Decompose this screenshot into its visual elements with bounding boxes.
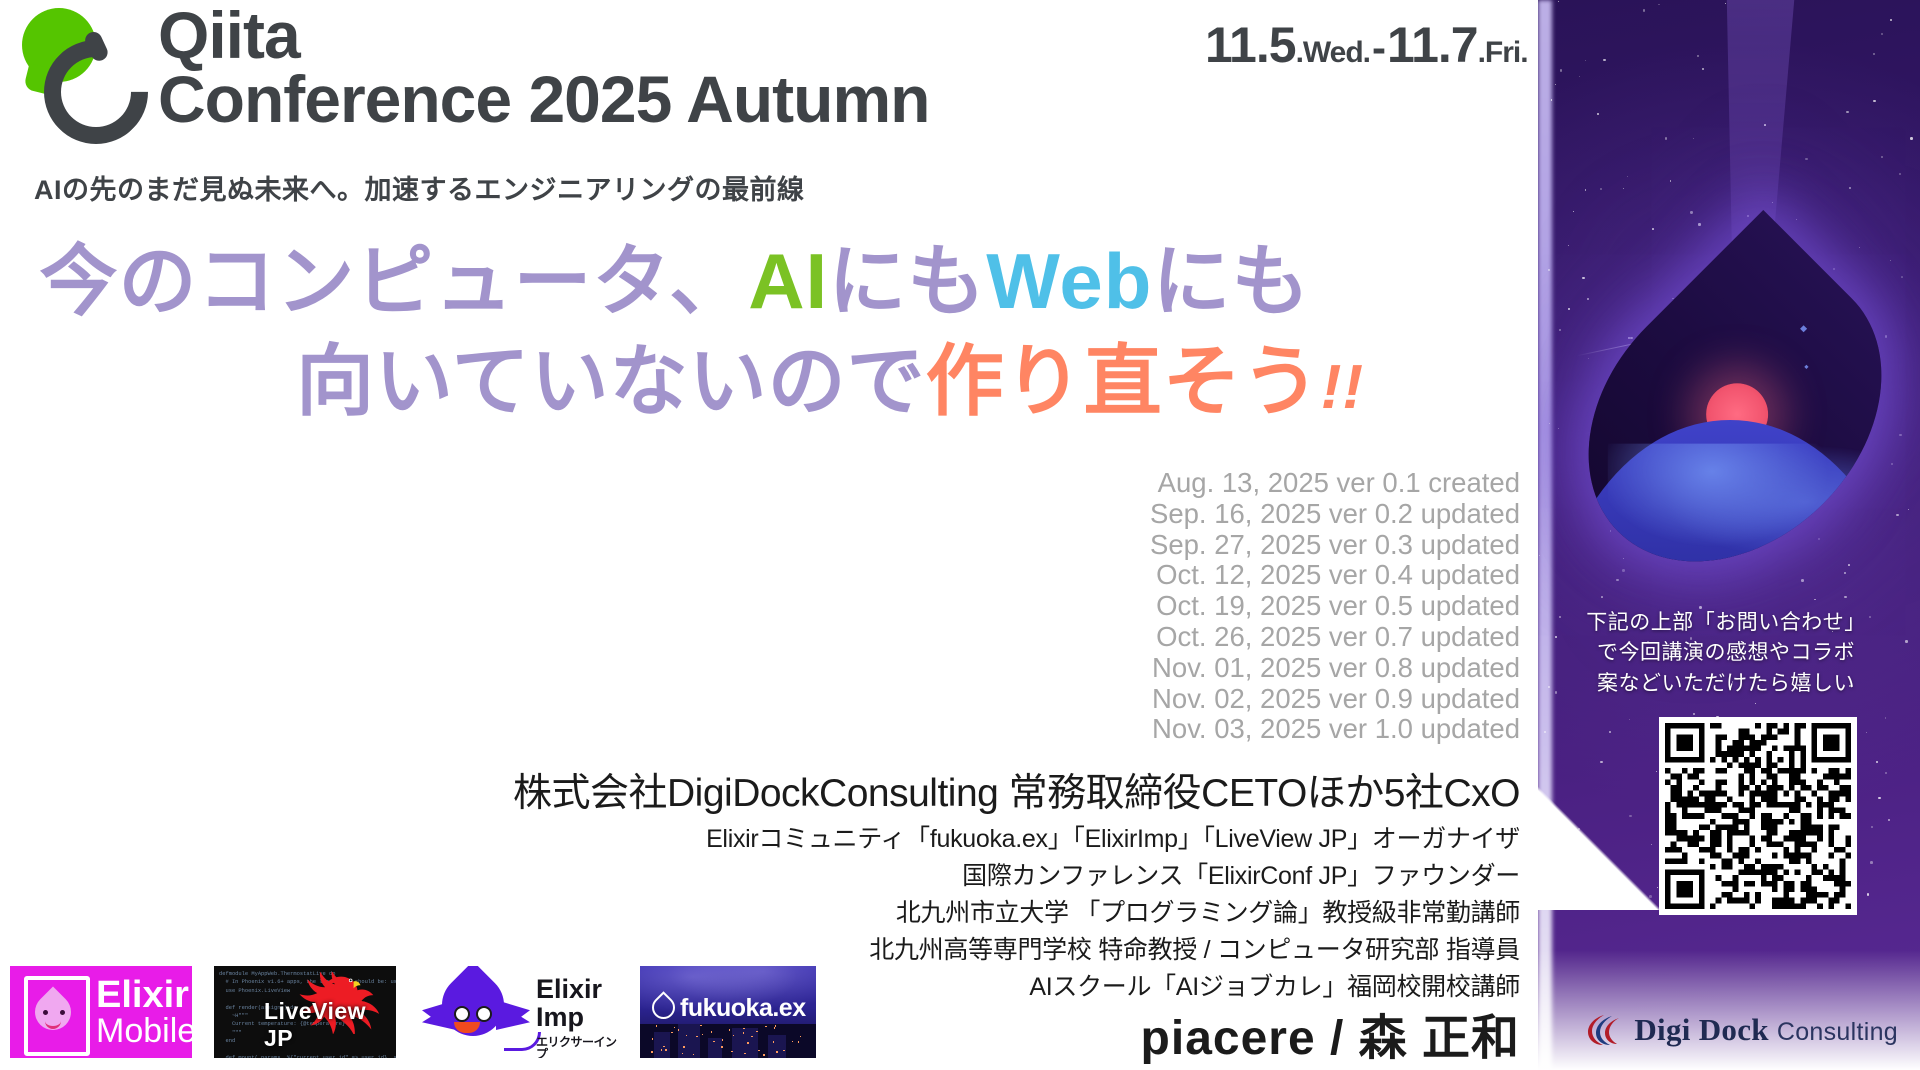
presenter-role-item: 北九州市立大学 「プログラミング論」教授級非常勤講師 (513, 897, 1520, 930)
city-light-icon (665, 1049, 667, 1051)
star-icon (1885, 717, 1887, 719)
city-light-icon (747, 1042, 749, 1044)
star-icon (1551, 99, 1553, 101)
star-icon (1885, 335, 1888, 338)
city-light-icon (663, 1046, 665, 1048)
city-light-icon (711, 1031, 713, 1033)
version-history-item: Sep. 16, 2025 ver 0.2 updated (1150, 499, 1520, 530)
planet-clouds (1608, 444, 1883, 583)
presenter-role-item: 北九州高等専門学校 特命教授 / コンピュータ研究部 指導員 (513, 934, 1520, 967)
city-light-icon (743, 1032, 745, 1034)
star-icon (1873, 100, 1875, 102)
star-icon (1555, 84, 1556, 85)
qr-caption-line-3: 案などいただけたら嬉しい (1556, 669, 1896, 699)
star-icon (1878, 797, 1880, 799)
imp-eye-icon (454, 1006, 470, 1022)
city-light-icon (722, 1039, 724, 1041)
star-icon (1876, 761, 1878, 763)
star-icon (1888, 819, 1890, 821)
star-icon (1603, 59, 1605, 61)
version-history-item: Oct. 19, 2025 ver 0.5 updated (1150, 591, 1520, 622)
qr-caption-line-1: 下記の上部「お問い合わせ」 (1556, 608, 1896, 638)
brand-conference-word: Conference (158, 62, 511, 136)
date-end-number: 11.7 (1387, 17, 1478, 73)
imp-eye-icon (476, 1006, 492, 1022)
city-light-icon (731, 1051, 733, 1053)
elixir-mobile-line-1: Elixir (96, 976, 189, 1014)
mascot-eye-icon (60, 1010, 65, 1015)
star-icon (1690, 211, 1692, 213)
city-light-icon (729, 1029, 731, 1031)
city-light-icon (678, 1029, 680, 1031)
qr-code[interactable] (1659, 717, 1857, 915)
star-icon (1881, 156, 1883, 158)
star-icon (1585, 60, 1587, 62)
star-icon (1627, 176, 1628, 177)
qr-caption-line-2: で今回講演の感想やコラボ (1556, 638, 1896, 668)
city-light-icon (661, 1049, 663, 1051)
version-history-item: Oct. 26, 2025 ver 0.7 updated (1150, 622, 1520, 653)
star-icon (1587, 298, 1589, 300)
logo-liveview-jp[interactable]: defmodule MyAppWeb.ThermostatLive do # I… (214, 966, 396, 1058)
star-icon (1846, 111, 1849, 114)
star-icon (1560, 69, 1563, 72)
star-icon (1579, 76, 1580, 77)
fukuoka-ex-label: fukuoka.ex (680, 994, 806, 1023)
city-light-icon (733, 1035, 735, 1037)
city-light-icon (693, 1054, 695, 1056)
star-icon (1849, 187, 1851, 189)
star-icon (1693, 713, 1695, 715)
logo-elixir-mobile[interactable]: Elixir Mobile (10, 966, 192, 1058)
star-icon (1665, 137, 1667, 139)
star-icon (1896, 514, 1898, 516)
city-light-icon (682, 1053, 684, 1055)
star-icon (1601, 596, 1603, 598)
star-icon (1697, 55, 1698, 56)
presentation-slide: 下記の上部「お問い合わせ」 で今回講演の感想やコラボ 案などいただけたら嬉しい … (0, 0, 1920, 1070)
city-light-icon (773, 1041, 775, 1043)
title-seg-nimo-2: にも (1152, 237, 1310, 325)
city-light-icon (671, 1032, 673, 1034)
city-light-icon (686, 1035, 688, 1037)
city-light-icon (792, 1041, 794, 1043)
title-line-2: 向いていないので作り直そう!! (0, 332, 1540, 432)
city-light-icon (674, 1027, 676, 1029)
city-light-icon (651, 1051, 653, 1053)
title-seg-muiteinai: 向いていないので (296, 337, 926, 425)
version-history-item: Sep. 27, 2025 ver 0.3 updated (1150, 530, 1520, 561)
city-light-icon (798, 1041, 800, 1043)
title-seg-exclamation: !! (1321, 353, 1364, 422)
city-light-icon (765, 1026, 767, 1028)
twinkle-icon (1800, 325, 1807, 332)
star-icon (1890, 260, 1891, 261)
city-light-icon (696, 1036, 698, 1038)
version-history-item: Oct. 12, 2025 ver 0.4 updated (1150, 560, 1520, 591)
version-history-list: Aug. 13, 2025 ver 0.1 createdSep. 16, 20… (1150, 468, 1520, 745)
star-icon (1908, 509, 1909, 510)
city-light-icon (758, 1050, 760, 1052)
date-start-number: 11.5 (1205, 17, 1296, 73)
building-icon (768, 1035, 786, 1058)
conference-tagline: AIの先のまだ見ぬ未来へ。加速するエンジニアリングの最前線 (34, 168, 805, 207)
version-history-item: Nov. 03, 2025 ver 1.0 updated (1150, 714, 1520, 745)
date-start-dow: .Wed. (1296, 36, 1370, 69)
digidock-consulting-logo[interactable]: Digi Dock Consulting (1586, 1012, 1898, 1048)
city-light-icon (783, 1050, 785, 1052)
logo-fukuoka-ex[interactable]: fukuoka.ex (640, 966, 816, 1058)
star-icon (1568, 245, 1569, 246)
city-light-icon (744, 1053, 746, 1055)
star-icon (1643, 9, 1645, 11)
city-light-icon (763, 1054, 765, 1056)
star-icon (1866, 732, 1867, 733)
droplet-scene (1538, 210, 1920, 620)
presenter-role-item: 国際カンファレンス「ElixirConf JP」ファウンダー (513, 860, 1520, 893)
star-icon (1698, 223, 1700, 225)
date-end-dow: .Fri. (1478, 36, 1528, 69)
star-icon (1796, 219, 1797, 220)
city-light-icon (756, 1031, 758, 1033)
star-icon (1725, 3, 1726, 4)
logo-elixir-imp[interactable]: Elixir Imp エリクサーインプ (418, 966, 618, 1058)
liveview-jp-label: LiveView JP (264, 998, 396, 1052)
city-light-icon (713, 1041, 715, 1043)
star-icon (1901, 276, 1903, 278)
building-icon (708, 1038, 722, 1058)
title-line-1: 今のコンピュータ、AIにもWebにも (0, 232, 1540, 332)
slide-title: 今のコンピュータ、AIにもWebにも 向いていないので作り直そう!! (0, 232, 1540, 432)
title-seg-web: Web (986, 237, 1152, 325)
star-icon (1652, 228, 1654, 230)
star-icon (1891, 463, 1893, 465)
title-seg-ai: AI (748, 237, 828, 325)
star-icon (1559, 329, 1562, 332)
version-history-item: Nov. 01, 2025 ver 0.8 updated (1150, 653, 1520, 684)
star-icon (1814, 599, 1816, 601)
presenter-headline: 株式会社DigiDockConsulting 常務取締役CETOほか5社CxO (513, 770, 1520, 819)
city-light-icon (700, 1025, 702, 1027)
star-icon (1755, 703, 1756, 704)
city-light-icon (652, 1038, 654, 1040)
presenter-role-item: Elixirコミュニティ「fukuoka.ex」「ElixirImp」「Live… (513, 823, 1520, 856)
star-icon (1582, 277, 1584, 279)
star-icon (1558, 1, 1559, 2)
star-icon (1899, 173, 1901, 175)
star-icon (1805, 158, 1808, 161)
brand-year: 2025 Autumn (528, 62, 929, 136)
star-icon (1702, 68, 1704, 70)
title-seg-tsukurinaosou: 作り直そう (926, 337, 1321, 425)
city-light-icon (800, 1036, 802, 1038)
qiita-logo (18, 6, 138, 116)
city-light-icon (656, 1025, 658, 1027)
star-icon (1597, 113, 1599, 115)
panel-corner-cut (1538, 670, 1678, 910)
title-seg-computer: 今のコンピュータ、 (40, 237, 749, 325)
city-light-icon (743, 1028, 745, 1030)
star-icon (1890, 19, 1892, 21)
star-icon (1623, 188, 1624, 189)
digidock-consulting-word: Consulting (1777, 1018, 1898, 1046)
sponsor-logo-row: Elixir Mobile defmodule MyAppWeb.Thermos… (10, 966, 816, 1058)
star-icon (1658, 4, 1660, 6)
city-light-icon (683, 1046, 685, 1048)
version-history-item: Aug. 13, 2025 ver 0.1 created (1150, 468, 1520, 499)
star-icon (1885, 772, 1887, 774)
star-icon (1585, 189, 1587, 191)
city-light-icon (774, 1027, 776, 1029)
star-icon (1871, 826, 1873, 828)
star-icon (1870, 861, 1873, 864)
version-history-item: Nov. 02, 2025 ver 0.9 updated (1150, 684, 1520, 715)
elixir-droplet-graphic (1610, 250, 1860, 580)
elixir-imp-line-3: エリクサーインプ (536, 1036, 618, 1058)
elixir-mobile-line-2: Mobile (96, 1014, 192, 1048)
star-icon (1859, 247, 1860, 248)
digidock-swoosh-icon (1586, 1013, 1626, 1047)
elixir-imp-line-2: Imp (536, 1004, 584, 1031)
date-range-dash: - (1370, 24, 1387, 71)
star-icon (1539, 555, 1540, 556)
star-icon (1600, 188, 1602, 190)
star-icon (1905, 640, 1907, 642)
city-light-icon (776, 1051, 778, 1053)
city-light-icon (751, 1036, 753, 1038)
brand-line-2: Conference 2025 Autumn (158, 66, 929, 132)
star-icon (1693, 138, 1694, 139)
star-icon (1844, 596, 1847, 599)
building-icon (654, 1032, 670, 1058)
conference-dates: 11.5.Wed.-11.7.Fri. (1205, 16, 1528, 74)
star-icon (1558, 428, 1559, 429)
city-light-icon (702, 1034, 704, 1036)
star-icon (1873, 53, 1875, 55)
star-icon (1881, 33, 1883, 35)
elixir-imp-line-1: Elixir (536, 976, 602, 1003)
star-icon (1910, 137, 1912, 139)
brand-line-1: Qiita (158, 2, 300, 68)
title-seg-nimo-1: にも (828, 237, 986, 325)
digidock-wordmark: Digi Dock Consulting (1634, 1012, 1898, 1048)
twinkle-icon (1804, 365, 1808, 369)
digidock-name: Digi Dock (1634, 1012, 1768, 1047)
qr-caption: 下記の上部「お問い合わせ」 で今回講演の感想やコラボ 案などいただけたら嬉しい (1556, 608, 1896, 699)
star-icon (1568, 308, 1569, 309)
city-light-icon (721, 1046, 723, 1048)
mascot-eye-icon (43, 1010, 48, 1015)
star-icon (1899, 434, 1901, 436)
star-icon (1670, 180, 1671, 181)
star-icon (1573, 211, 1575, 213)
star-icon (1588, 358, 1589, 359)
